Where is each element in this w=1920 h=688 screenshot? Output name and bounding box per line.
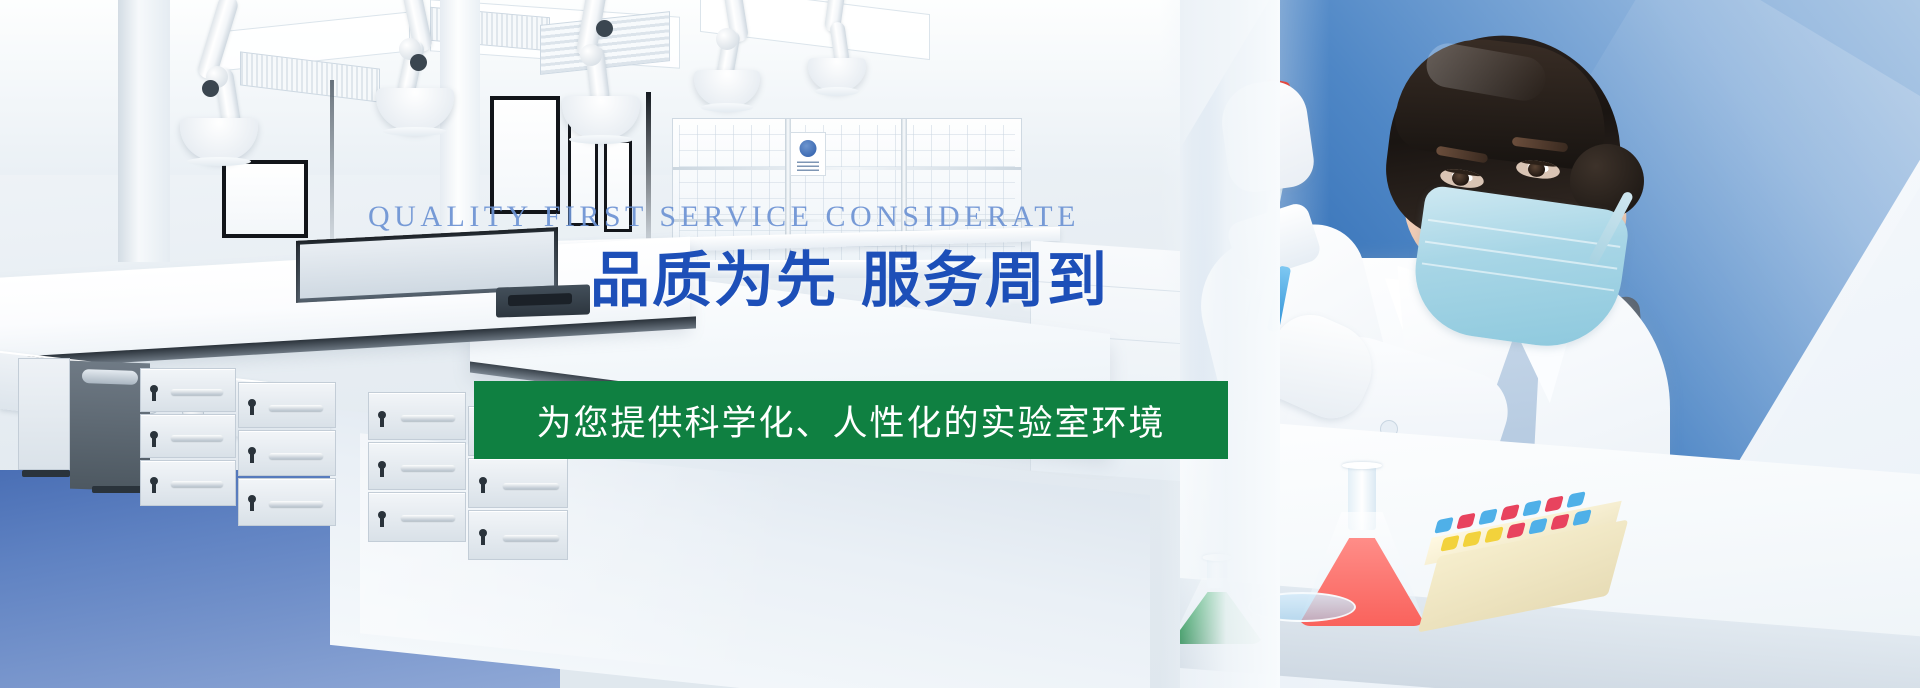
- banner-text-overlay: QUALITY FIRST SERVICE CONSIDERATE 品质为先 服…: [0, 0, 1920, 688]
- banner-headline: 品质为先 服务周到: [590, 248, 1109, 314]
- hero-banner: QUALITY FIRST SERVICE CONSIDERATE 品质为先 服…: [0, 0, 1920, 688]
- subtitle-band: 为您提供科学化、人性化的实验室环境: [474, 381, 1228, 459]
- subtitle-text: 为您提供科学化、人性化的实验室环境: [536, 395, 1165, 446]
- english-tagline: QUALITY FIRST SERVICE CONSIDERATE: [368, 200, 1028, 234]
